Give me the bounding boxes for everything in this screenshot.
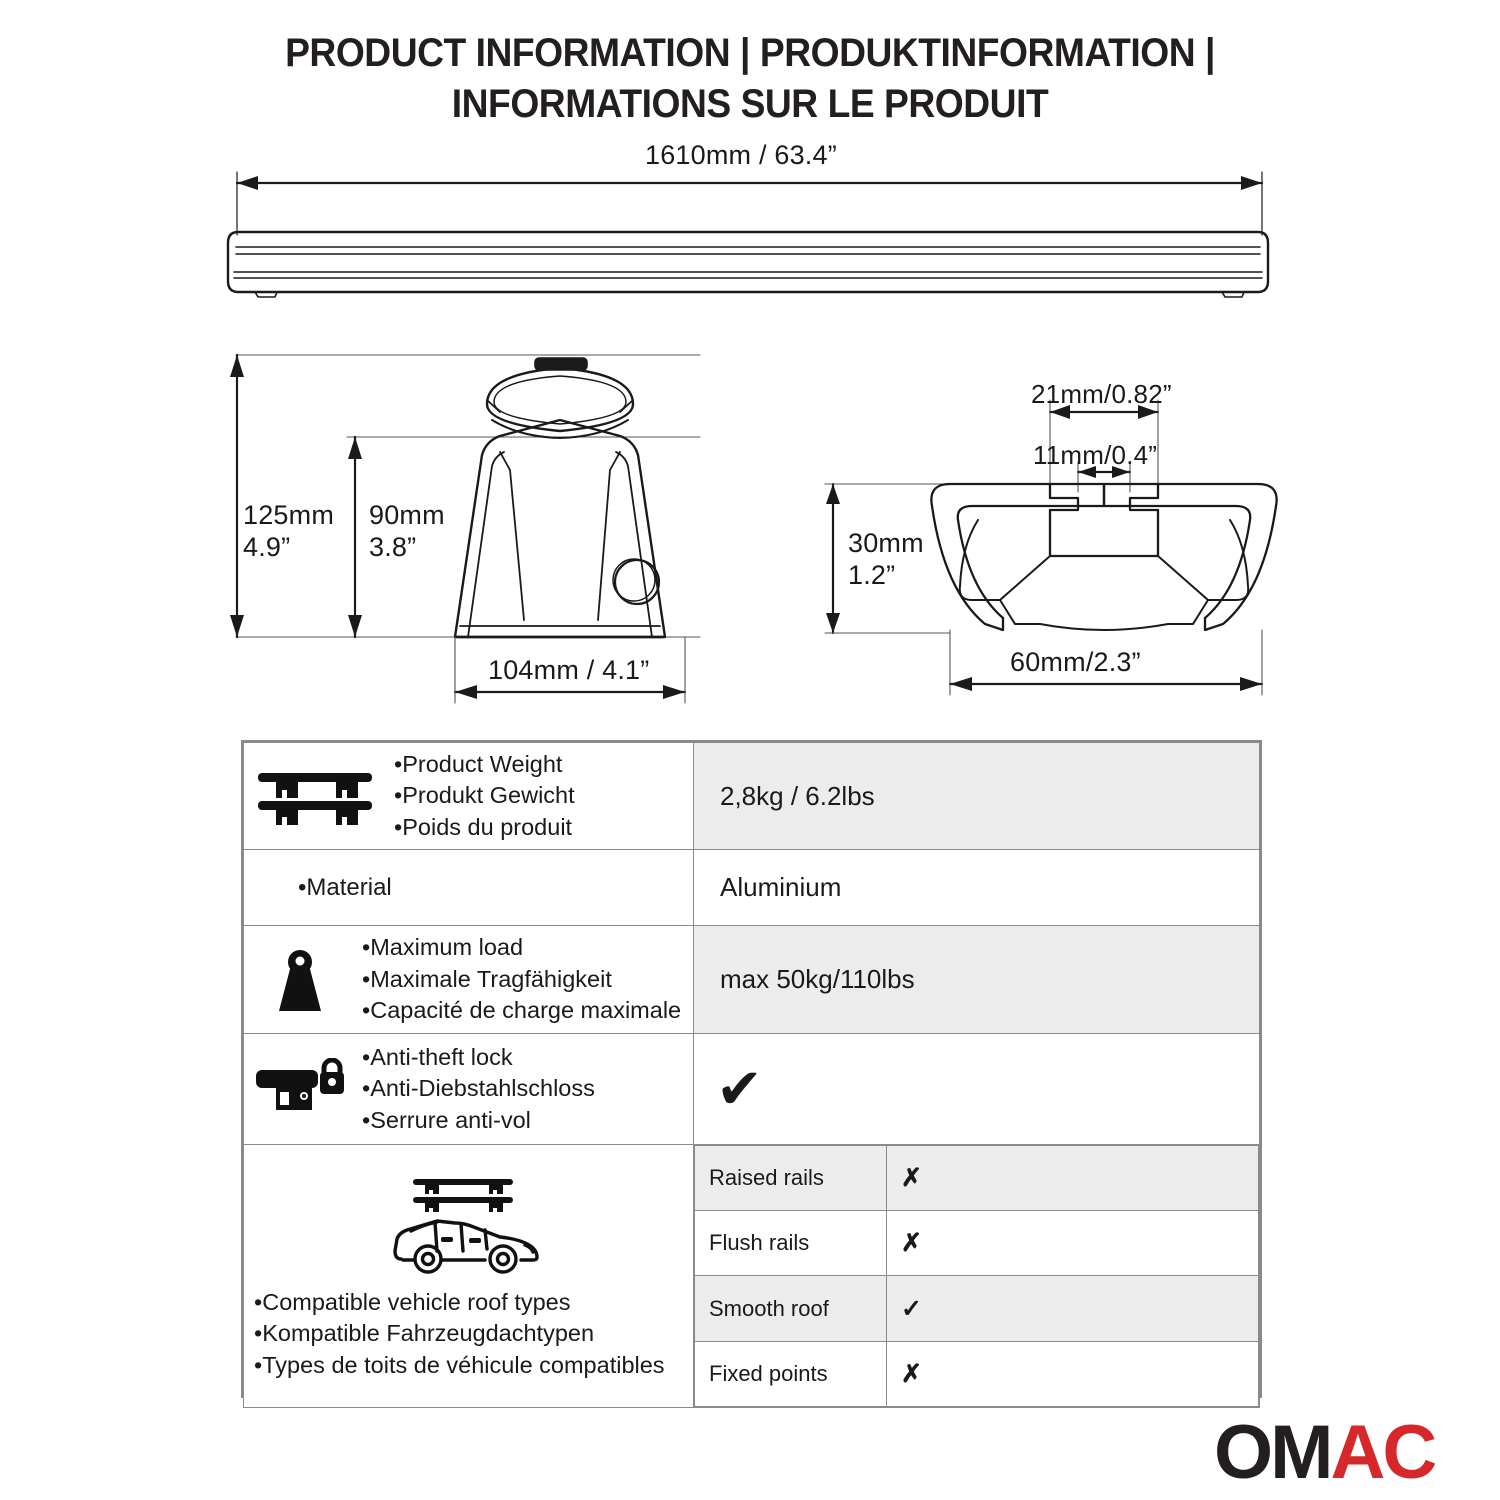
weight-icon xyxy=(254,947,346,1013)
car-with-roof-rack-icon xyxy=(385,1171,555,1281)
roof-type-row: Fixed points ✗ xyxy=(695,1341,1259,1406)
roof-type-mark: ✓ xyxy=(887,1276,1259,1341)
compatibility-label-list: •Compatible vehicle roof types •Kompatib… xyxy=(254,1287,665,1381)
max-load-label-cell: •Maximum load •Maximale Tragfähigkeit •C… xyxy=(244,926,694,1033)
roof-type-name: Raised rails xyxy=(695,1145,887,1210)
roof-types-cell: Raised rails ✗ Flush rails ✗ Smooth roof… xyxy=(694,1144,1260,1407)
lock-check-mark: ✔ xyxy=(694,1061,1259,1117)
max-load-value-cell: max 50kg/110lbs xyxy=(694,926,1260,1033)
lock-label-cell: •Anti-theft lock •Anti-Diebstahlschloss … xyxy=(244,1033,694,1144)
foot-width-label: 104mm / 4.1” xyxy=(488,655,649,687)
roof-types-table: Raised rails ✗ Flush rails ✗ Smooth roof… xyxy=(694,1145,1259,1407)
weight-label-list: •Product Weight •Produkt Gewicht •Poids … xyxy=(394,749,575,843)
roof-type-mark: ✗ xyxy=(887,1341,1259,1406)
table-row: •Product Weight •Produkt Gewicht •Poids … xyxy=(244,743,1260,850)
table-row: •Compatible vehicle roof types •Kompatib… xyxy=(244,1144,1260,1407)
compat-label-fr: •Types de toits de véhicule compatibles xyxy=(254,1350,665,1381)
logo-text-accent: AC xyxy=(1330,1410,1434,1495)
bar-length-label: 1610mm / 63.4” xyxy=(645,140,837,172)
max-load-label-en: •Maximum load xyxy=(362,932,681,963)
lock-label-fr: •Serrure anti-vol xyxy=(362,1105,595,1136)
max-load-label-list: •Maximum load •Maximale Tragfähigkeit •C… xyxy=(362,932,681,1026)
section-width-label: 60mm/2.3” xyxy=(1010,647,1141,679)
roof-type-mark: ✗ xyxy=(887,1211,1259,1276)
material-label: •Material xyxy=(254,874,685,902)
roof-type-row: Flush rails ✗ xyxy=(695,1211,1259,1276)
weight-value: 2,8kg / 6.2lbs xyxy=(694,781,1259,812)
table-row: •Anti-theft lock •Anti-Diebstahlschloss … xyxy=(244,1033,1260,1144)
roof-type-row: Smooth roof ✓ xyxy=(695,1276,1259,1341)
table-row: •Maximum load •Maximale Tragfähigkeit •C… xyxy=(244,926,1260,1033)
max-load-label-fr: •Capacité de charge maximale xyxy=(362,995,681,1026)
compat-label-en: •Compatible vehicle roof types xyxy=(254,1287,665,1318)
omac-logo: OMAC xyxy=(1214,1415,1434,1491)
section-height-label: 30mm 1.2” xyxy=(848,528,924,592)
max-load-value: max 50kg/110lbs xyxy=(694,964,1259,995)
page-title: PRODUCT INFORMATION | PRODUKTINFORMATION… xyxy=(0,28,1500,130)
crossbars-icon xyxy=(254,765,378,827)
slot-outer-width-label: 21mm/0.82” xyxy=(1031,379,1172,410)
title-line-1: PRODUCT INFORMATION | PRODUKTINFORMATION… xyxy=(53,28,1448,79)
compatibility-label-cell: •Compatible vehicle roof types •Kompatib… xyxy=(244,1144,694,1407)
roof-type-row: Raised rails ✗ xyxy=(695,1145,1259,1210)
foot-total-height-label: 125mm 4.9” xyxy=(243,500,334,564)
roof-type-mark: ✗ xyxy=(887,1145,1259,1210)
lock-label-de: •Anti-Diebstahlschloss xyxy=(362,1073,595,1104)
roof-type-name: Smooth roof xyxy=(695,1276,887,1341)
table-row: •Material Aluminium xyxy=(244,850,1260,926)
specification-table: •Product Weight •Produkt Gewicht •Poids … xyxy=(241,740,1262,1398)
product-information-sheet: PRODUCT INFORMATION | PRODUKTINFORMATION… xyxy=(0,0,1500,1500)
logo-text-dark: OM xyxy=(1214,1410,1330,1495)
weight-label-de: •Produkt Gewicht xyxy=(394,780,575,811)
lock-icon xyxy=(254,1058,346,1120)
title-line-2: INFORMATIONS SUR LE PRODUIT xyxy=(53,79,1448,130)
roof-type-name: Fixed points xyxy=(695,1341,887,1406)
slot-inner-width-label: 11mm/0.4” xyxy=(1033,440,1157,471)
material-value: Aluminium xyxy=(694,872,1259,903)
weight-label-en: •Product Weight xyxy=(394,749,575,780)
weight-value-cell: 2,8kg / 6.2lbs xyxy=(694,743,1260,850)
compat-label-de: •Kompatible Fahrzeugdachtypen xyxy=(254,1318,665,1349)
roof-type-name: Flush rails xyxy=(695,1211,887,1276)
weight-label-cell: •Product Weight •Produkt Gewicht •Poids … xyxy=(244,743,694,850)
material-label-cell: •Material xyxy=(244,850,694,926)
lock-label-list: •Anti-theft lock •Anti-Diebstahlschloss … xyxy=(362,1042,595,1136)
foot-inner-height-label: 90mm 3.8” xyxy=(369,500,445,564)
weight-label-fr: •Poids du produit xyxy=(394,812,575,843)
material-value-cell: Aluminium xyxy=(694,850,1260,926)
lock-label-en: •Anti-theft lock xyxy=(362,1042,595,1073)
lock-value-cell: ✔ xyxy=(694,1033,1260,1144)
max-load-label-de: •Maximale Tragfähigkeit xyxy=(362,964,681,995)
